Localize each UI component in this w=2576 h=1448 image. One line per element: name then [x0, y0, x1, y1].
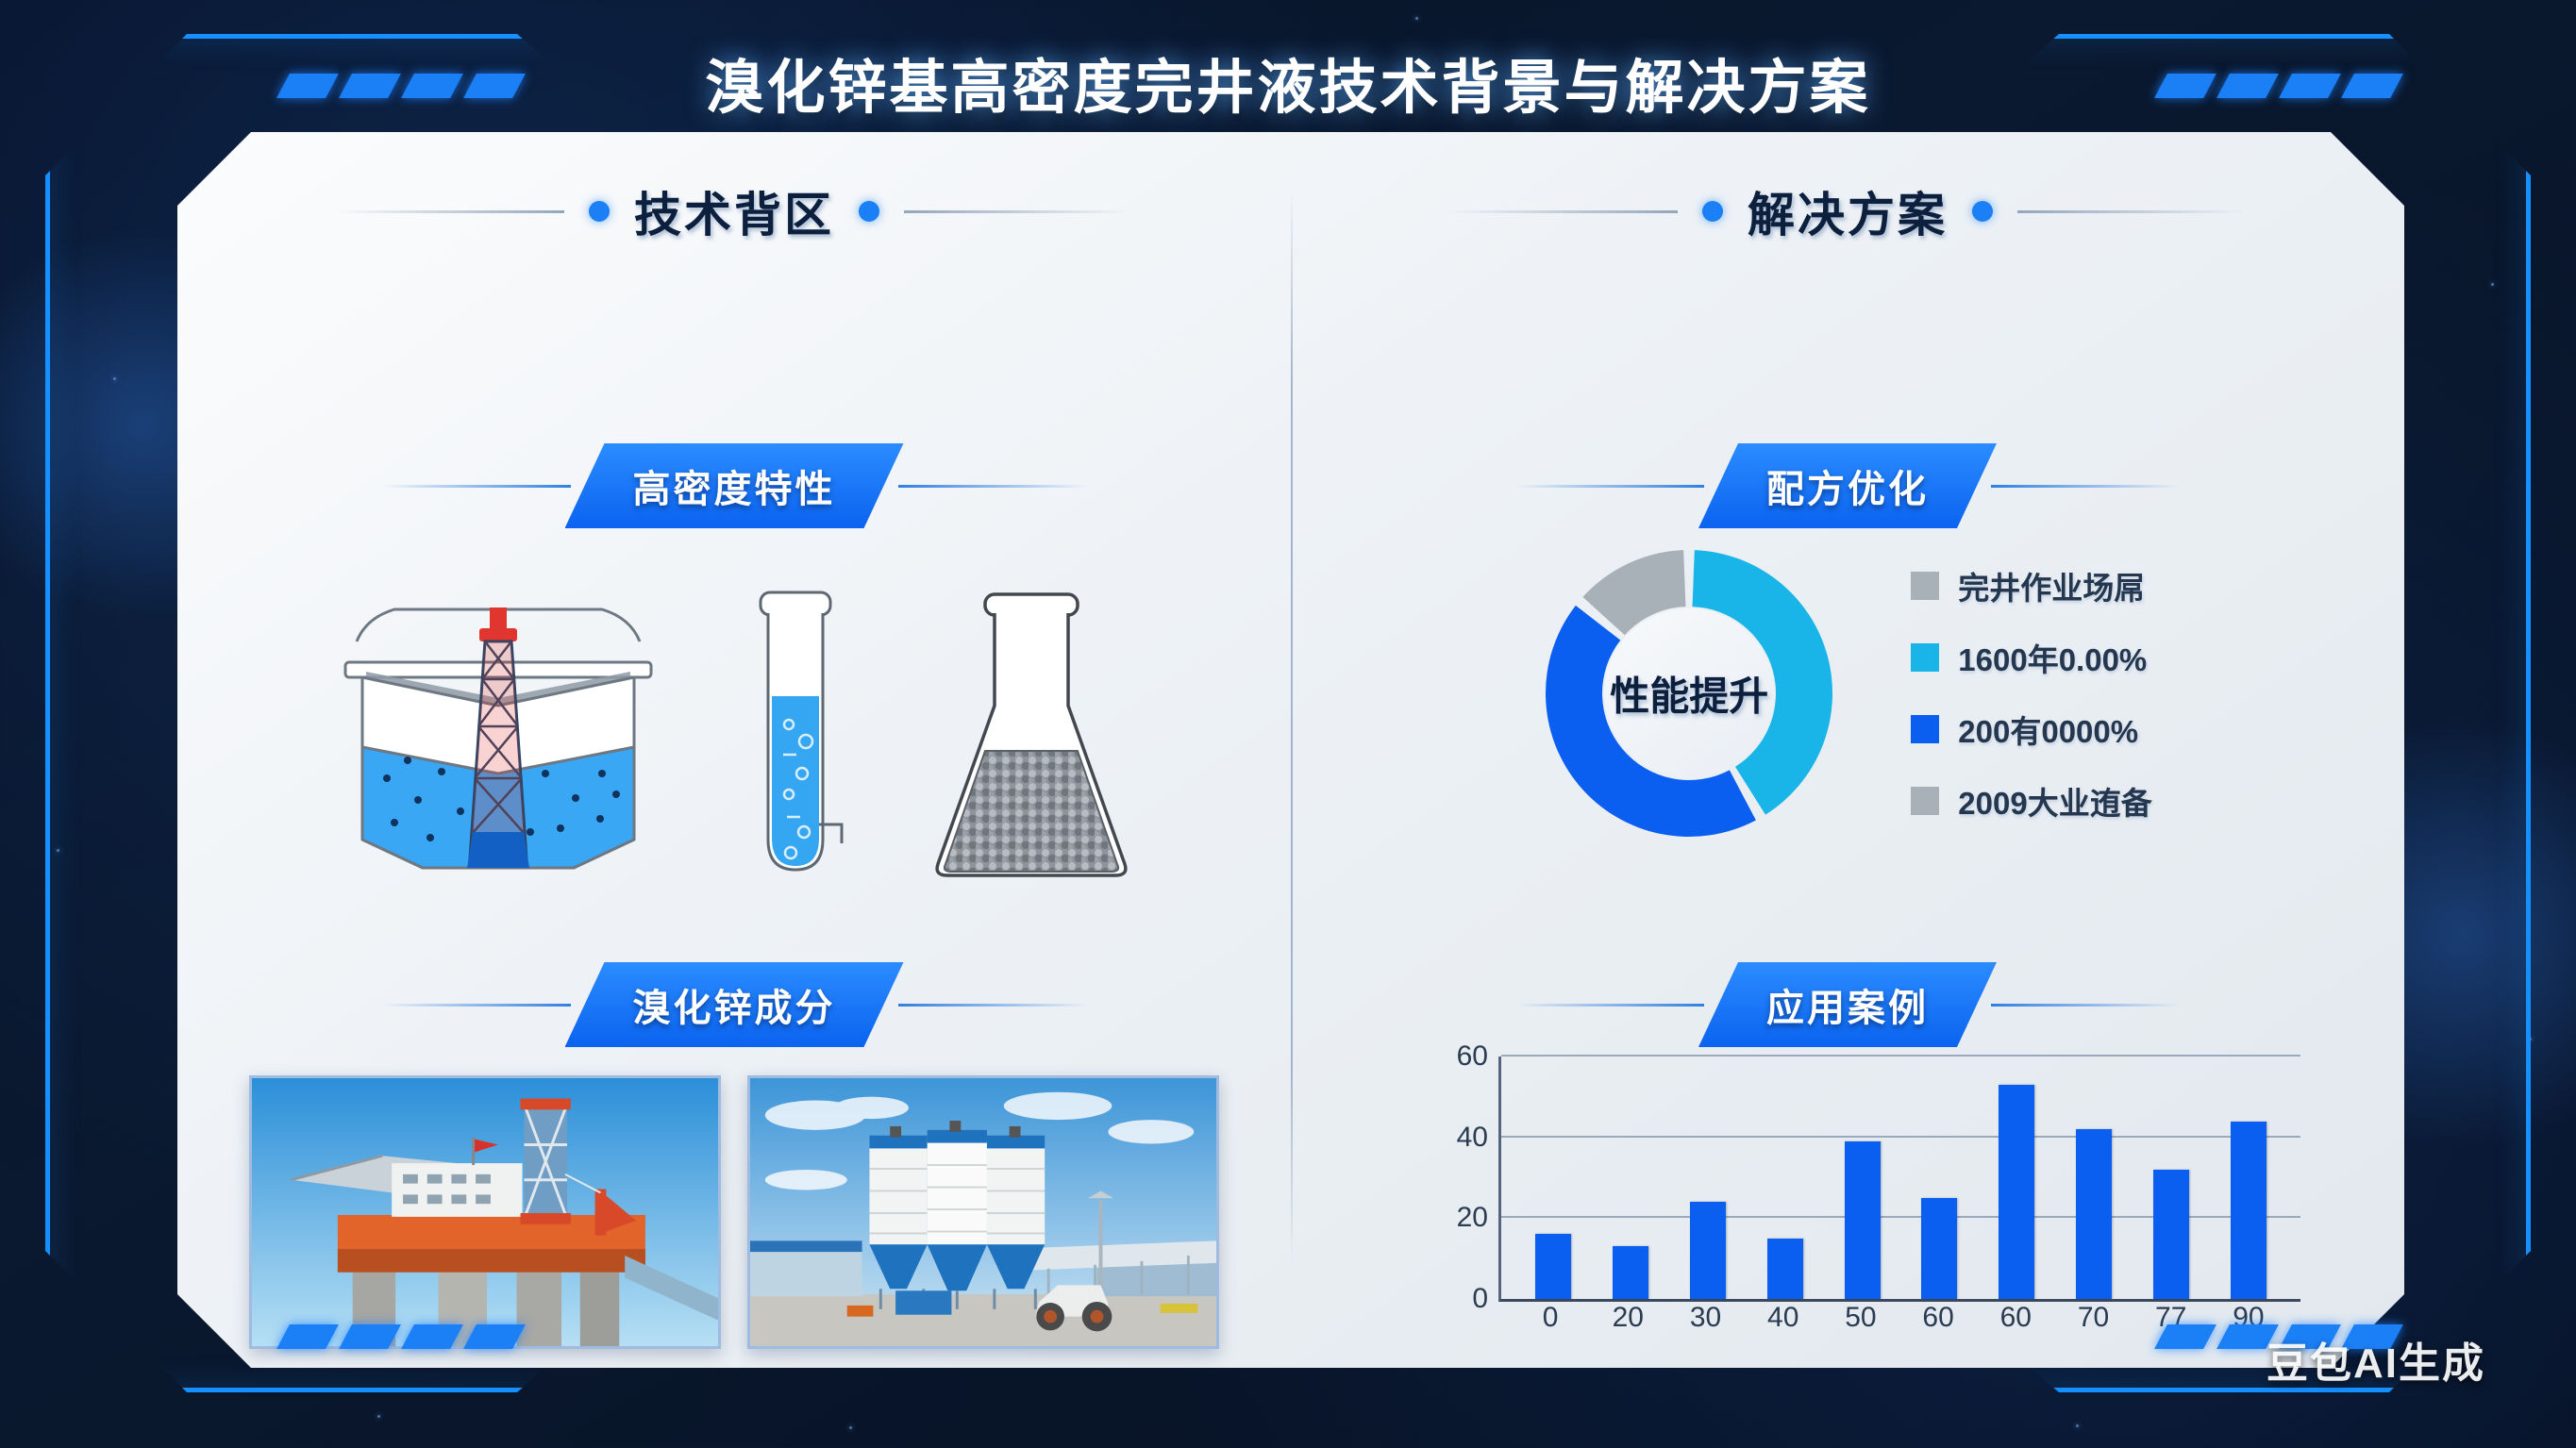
derrick-tank-illustration: [328, 585, 668, 887]
x-axis-tick-label: 60: [1977, 1302, 2054, 1340]
bar-item: [1978, 1057, 2055, 1299]
x-axis-tick-label: 70: [2054, 1302, 2132, 1340]
legend-item: 1600年0.00%: [1911, 635, 2151, 680]
donut-graphic: 性能提升: [1543, 547, 1835, 840]
legend-label: 1600年0.00%: [1958, 635, 2147, 680]
legend-label: 完井作业场屌: [1958, 563, 2145, 608]
bar: [1921, 1198, 1957, 1299]
bar-item: [2133, 1057, 2210, 1299]
x-axis-tick-label: 50: [1822, 1302, 1899, 1340]
left-badge-top-row: 高密度特性: [177, 443, 1291, 528]
badge-high-density[interactable]: 高密度特性: [565, 443, 904, 528]
bar-series: [1501, 1057, 2300, 1299]
right-badge-bottom-row: 应用案例: [1291, 962, 2404, 1047]
bar-item: [1514, 1057, 1592, 1299]
bar-item: [2055, 1057, 2133, 1299]
badge-formula-optimization[interactable]: 配方优化: [1698, 443, 1997, 528]
badge-rule-left: [382, 485, 571, 488]
left-badge-bottom-row: 溴化锌成分: [177, 962, 1291, 1047]
y-axis-tick-label: 40: [1457, 1122, 1488, 1154]
legend-item: 200有0000%: [1911, 707, 2151, 752]
caption-text: 完井作业场景: [627, 1378, 842, 1418]
bar-item: [1747, 1057, 1824, 1299]
bar-item: [1901, 1057, 1979, 1299]
bar-plot-area: 0204060: [1498, 1057, 2300, 1302]
test-tube-illustration: [744, 585, 847, 887]
right-section-title: 解决方案: [1748, 177, 1948, 245]
badge-rule-right: [898, 485, 1087, 488]
bar: [2231, 1122, 2267, 1299]
badge-zinc-bromide-composition[interactable]: 溴化锌成分: [565, 962, 904, 1047]
badge-rule-right-2: [898, 1004, 1087, 1007]
bar-item: [1824, 1057, 1901, 1299]
x-axis-tick-label: 60: [1899, 1302, 1977, 1340]
legend-item: 2009大业迶备: [1911, 778, 2151, 824]
legend-swatch: [1911, 715, 1939, 743]
badge-rule-left-4: [1515, 1004, 1704, 1007]
left-column: 技术背区 高密度特性: [177, 132, 1291, 1368]
bar: [1767, 1239, 1803, 1299]
application-cases-bar-chart: 0204060 0203040506060707790: [1432, 1057, 2300, 1340]
left-illustration-group: [177, 575, 1291, 887]
bar: [1613, 1246, 1648, 1299]
header-rule-left: [338, 210, 564, 213]
offshore-platform-photo[interactable]: [249, 1075, 721, 1349]
bar: [1845, 1141, 1881, 1299]
header-rule-left-r: [1451, 210, 1678, 213]
bar: [1535, 1234, 1571, 1299]
bar-item: [2210, 1057, 2287, 1299]
donut-center-label: 性能提升: [1610, 665, 1768, 723]
y-axis-tick-label: 0: [1472, 1283, 1488, 1315]
right-badge-top-row: 配方优化: [1291, 443, 2404, 528]
legend-swatch: [1911, 572, 1939, 600]
corner-hash-bottom-left: [283, 1324, 519, 1349]
x-axis-tick-label: 20: [1589, 1302, 1666, 1340]
flask-granules-illustration: [923, 585, 1140, 887]
right-column: 解决方案 配方优化 性能提升 完井作业场屌 1: [1291, 132, 2404, 1368]
legend-label: 2009大业迶备: [1958, 778, 2151, 824]
bar-item: [1592, 1057, 1669, 1299]
performance-donut-chart: 性能提升 完井作业场屌 1600年0.00% 200有0000% 2009大业: [1291, 547, 2404, 840]
x-axis-tick-label: 0: [1512, 1302, 1589, 1340]
y-axis-tick-label: 20: [1457, 1202, 1488, 1234]
industrial-silos-photo[interactable]: [747, 1075, 1219, 1349]
x-axis-tick-label: 40: [1745, 1302, 1822, 1340]
page-title: 溴化锌基高密度完井液技术背景与解决方案: [0, 40, 2576, 125]
badge-rule-right-3: [1991, 485, 2180, 488]
badge-application-cases[interactable]: 应用案例: [1698, 962, 1997, 1047]
y-axis-tick-label: 60: [1457, 1040, 1488, 1073]
content-panel: 技术背区 高密度特性: [177, 132, 2404, 1368]
header-dot-right: [859, 201, 879, 222]
header-rule-right: [904, 210, 1130, 213]
legend-swatch: [1911, 643, 1939, 672]
bar: [2076, 1129, 2112, 1299]
x-axis-tick-label: 30: [1666, 1302, 1744, 1340]
badge-rule-left-3: [1515, 485, 1704, 488]
bar: [1999, 1085, 2034, 1299]
bar: [2153, 1170, 2189, 1299]
header-rule-right-r: [2017, 210, 2244, 213]
bar-item: [1669, 1057, 1747, 1299]
badge-rule-left-2: [382, 1004, 571, 1007]
legend-item: 完井作业场屌: [1911, 563, 2151, 608]
header-dot-left: [589, 201, 610, 222]
header-dot-left-r: [1702, 201, 1723, 222]
legend-swatch: [1911, 787, 1939, 815]
bar: [1690, 1202, 1726, 1299]
left-section-header: 技术背区: [177, 177, 1291, 245]
donut-legend: 完井作业场屌 1600年0.00% 200有0000% 2009大业迶备: [1911, 563, 2151, 824]
watermark: 豆包AI生成: [2267, 1329, 2485, 1390]
badge-rule-right-4: [1991, 1004, 2180, 1007]
legend-label: 200有0000%: [1958, 707, 2138, 752]
right-section-header: 解决方案: [1291, 177, 2404, 245]
header-dot-right-r: [1972, 201, 1993, 222]
left-section-title: 技术背区: [634, 177, 834, 245]
left-photo-group: [177, 1075, 1291, 1349]
